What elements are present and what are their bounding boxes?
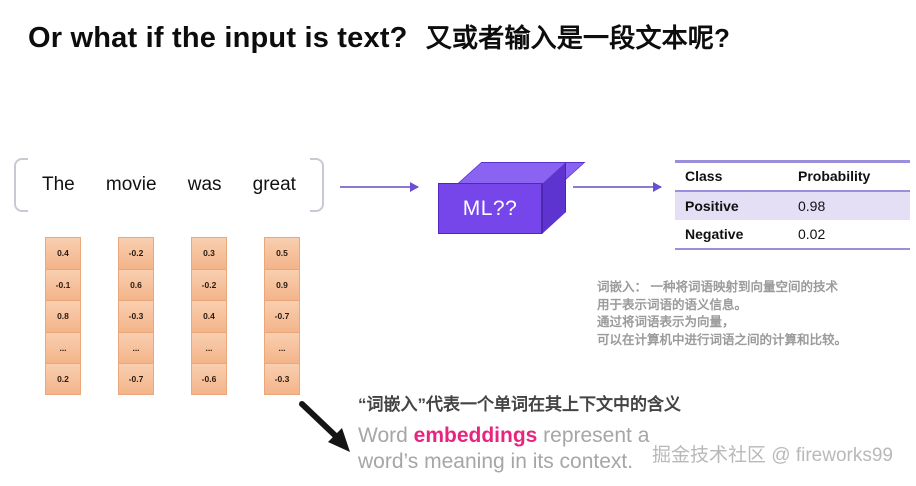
embedding-column-was: 0.3 -0.2 0.4 ... -0.6	[191, 237, 227, 395]
chinese-annotation-note: 词嵌入： 一种将词语映射到向量空间的技术 用于表示词语的语义信息。 通过将词语表…	[597, 279, 916, 349]
caption-en-pre: Word	[358, 424, 414, 447]
model-box-top-face	[457, 162, 585, 184]
embedding-column-movie: -0.2 0.6 -0.3 ... -0.7	[118, 237, 154, 395]
model-box-label: ML??	[438, 183, 542, 234]
sentence-words: The movie was great	[28, 158, 310, 212]
bracket-right-icon	[310, 158, 324, 212]
model-box: ML??	[438, 162, 566, 234]
embedding-cell: ...	[264, 332, 300, 364]
embedding-cell: ...	[118, 332, 154, 364]
watermark: 掘金技术社区 @ fireworks99	[652, 440, 893, 467]
probability-value-positive: 0.98	[788, 191, 910, 220]
embedding-cell: -0.1	[45, 269, 81, 301]
embedding-cell: 0.8	[45, 300, 81, 332]
table-row: Negative 0.02	[675, 220, 910, 249]
embedding-cell: 0.5	[264, 237, 300, 269]
embedding-cell: ...	[191, 332, 227, 364]
embedding-cell: 0.3	[191, 237, 227, 269]
bracket-left-icon	[14, 158, 28, 212]
column-header-probability: Probability	[788, 162, 910, 192]
arrow-right-icon-input-to-model	[340, 186, 418, 188]
embedding-cell: 0.6	[118, 269, 154, 301]
caption-en-highlight: embeddings	[414, 424, 538, 447]
embedding-cell: 0.4	[191, 300, 227, 332]
embedding-column-the: 0.4 -0.1 0.8 ... 0.2	[45, 237, 81, 395]
embedding-vectors: 0.4 -0.1 0.8 ... 0.2 -0.2 0.6 -0.3 ... -…	[45, 237, 313, 395]
embedding-cell: 0.9	[264, 269, 300, 301]
arrow-diagonal-down-right-icon	[298, 398, 360, 454]
class-label-negative: Negative	[675, 220, 788, 249]
note-line: 用于表示词语的语义信息。	[597, 297, 916, 315]
input-sentence-box: The movie was great	[14, 158, 324, 212]
probability-table: Class Probability Positive 0.98 Negative…	[675, 160, 910, 250]
embedding-cell: -0.3	[264, 363, 300, 395]
page-title: Or what if the input is text? 又或者输入是一段文本…	[28, 18, 730, 55]
embedding-cell: -0.2	[191, 269, 227, 301]
note-line: 可以在计算机中进行词语之间的计算和比较。	[597, 332, 916, 350]
sentence-word: great	[253, 174, 296, 196]
column-header-class: Class	[675, 162, 788, 192]
embedding-cell: -0.3	[118, 300, 154, 332]
note-line: 通过将词语表示为向量，	[597, 314, 916, 332]
table-header-row: Class Probability	[675, 162, 910, 192]
embedding-cell: -0.2	[118, 237, 154, 269]
page-title-cn: 又或者输入是一段文本呢?	[426, 23, 730, 53]
embedding-cell: 0.4	[45, 237, 81, 269]
embedding-cell: -0.7	[264, 300, 300, 332]
sentence-word: The	[42, 174, 75, 196]
page-title-en: Or what if the input is text?	[28, 22, 408, 54]
sentence-word: was	[188, 174, 222, 196]
embedding-column-great: 0.5 0.9 -0.7 ... -0.3	[264, 237, 300, 395]
embedding-cell: -0.7	[118, 363, 154, 395]
embedding-cell: -0.6	[191, 363, 227, 395]
table-row: Positive 0.98	[675, 191, 910, 220]
note-line: 词嵌入： 一种将词语映射到向量空间的技术	[597, 279, 916, 297]
caption-english: Word embeddings represent a word’s meani…	[358, 423, 688, 475]
embedding-cell: ...	[45, 332, 81, 364]
embedding-cell: 0.2	[45, 363, 81, 395]
sentence-word: movie	[106, 174, 157, 196]
class-label-positive: Positive	[675, 191, 788, 220]
caption-chinese: “词嵌入”代表一个单词在其上下文中的含义	[358, 390, 681, 415]
arrow-right-icon-model-to-output	[573, 186, 661, 188]
probability-value-negative: 0.02	[788, 220, 910, 249]
